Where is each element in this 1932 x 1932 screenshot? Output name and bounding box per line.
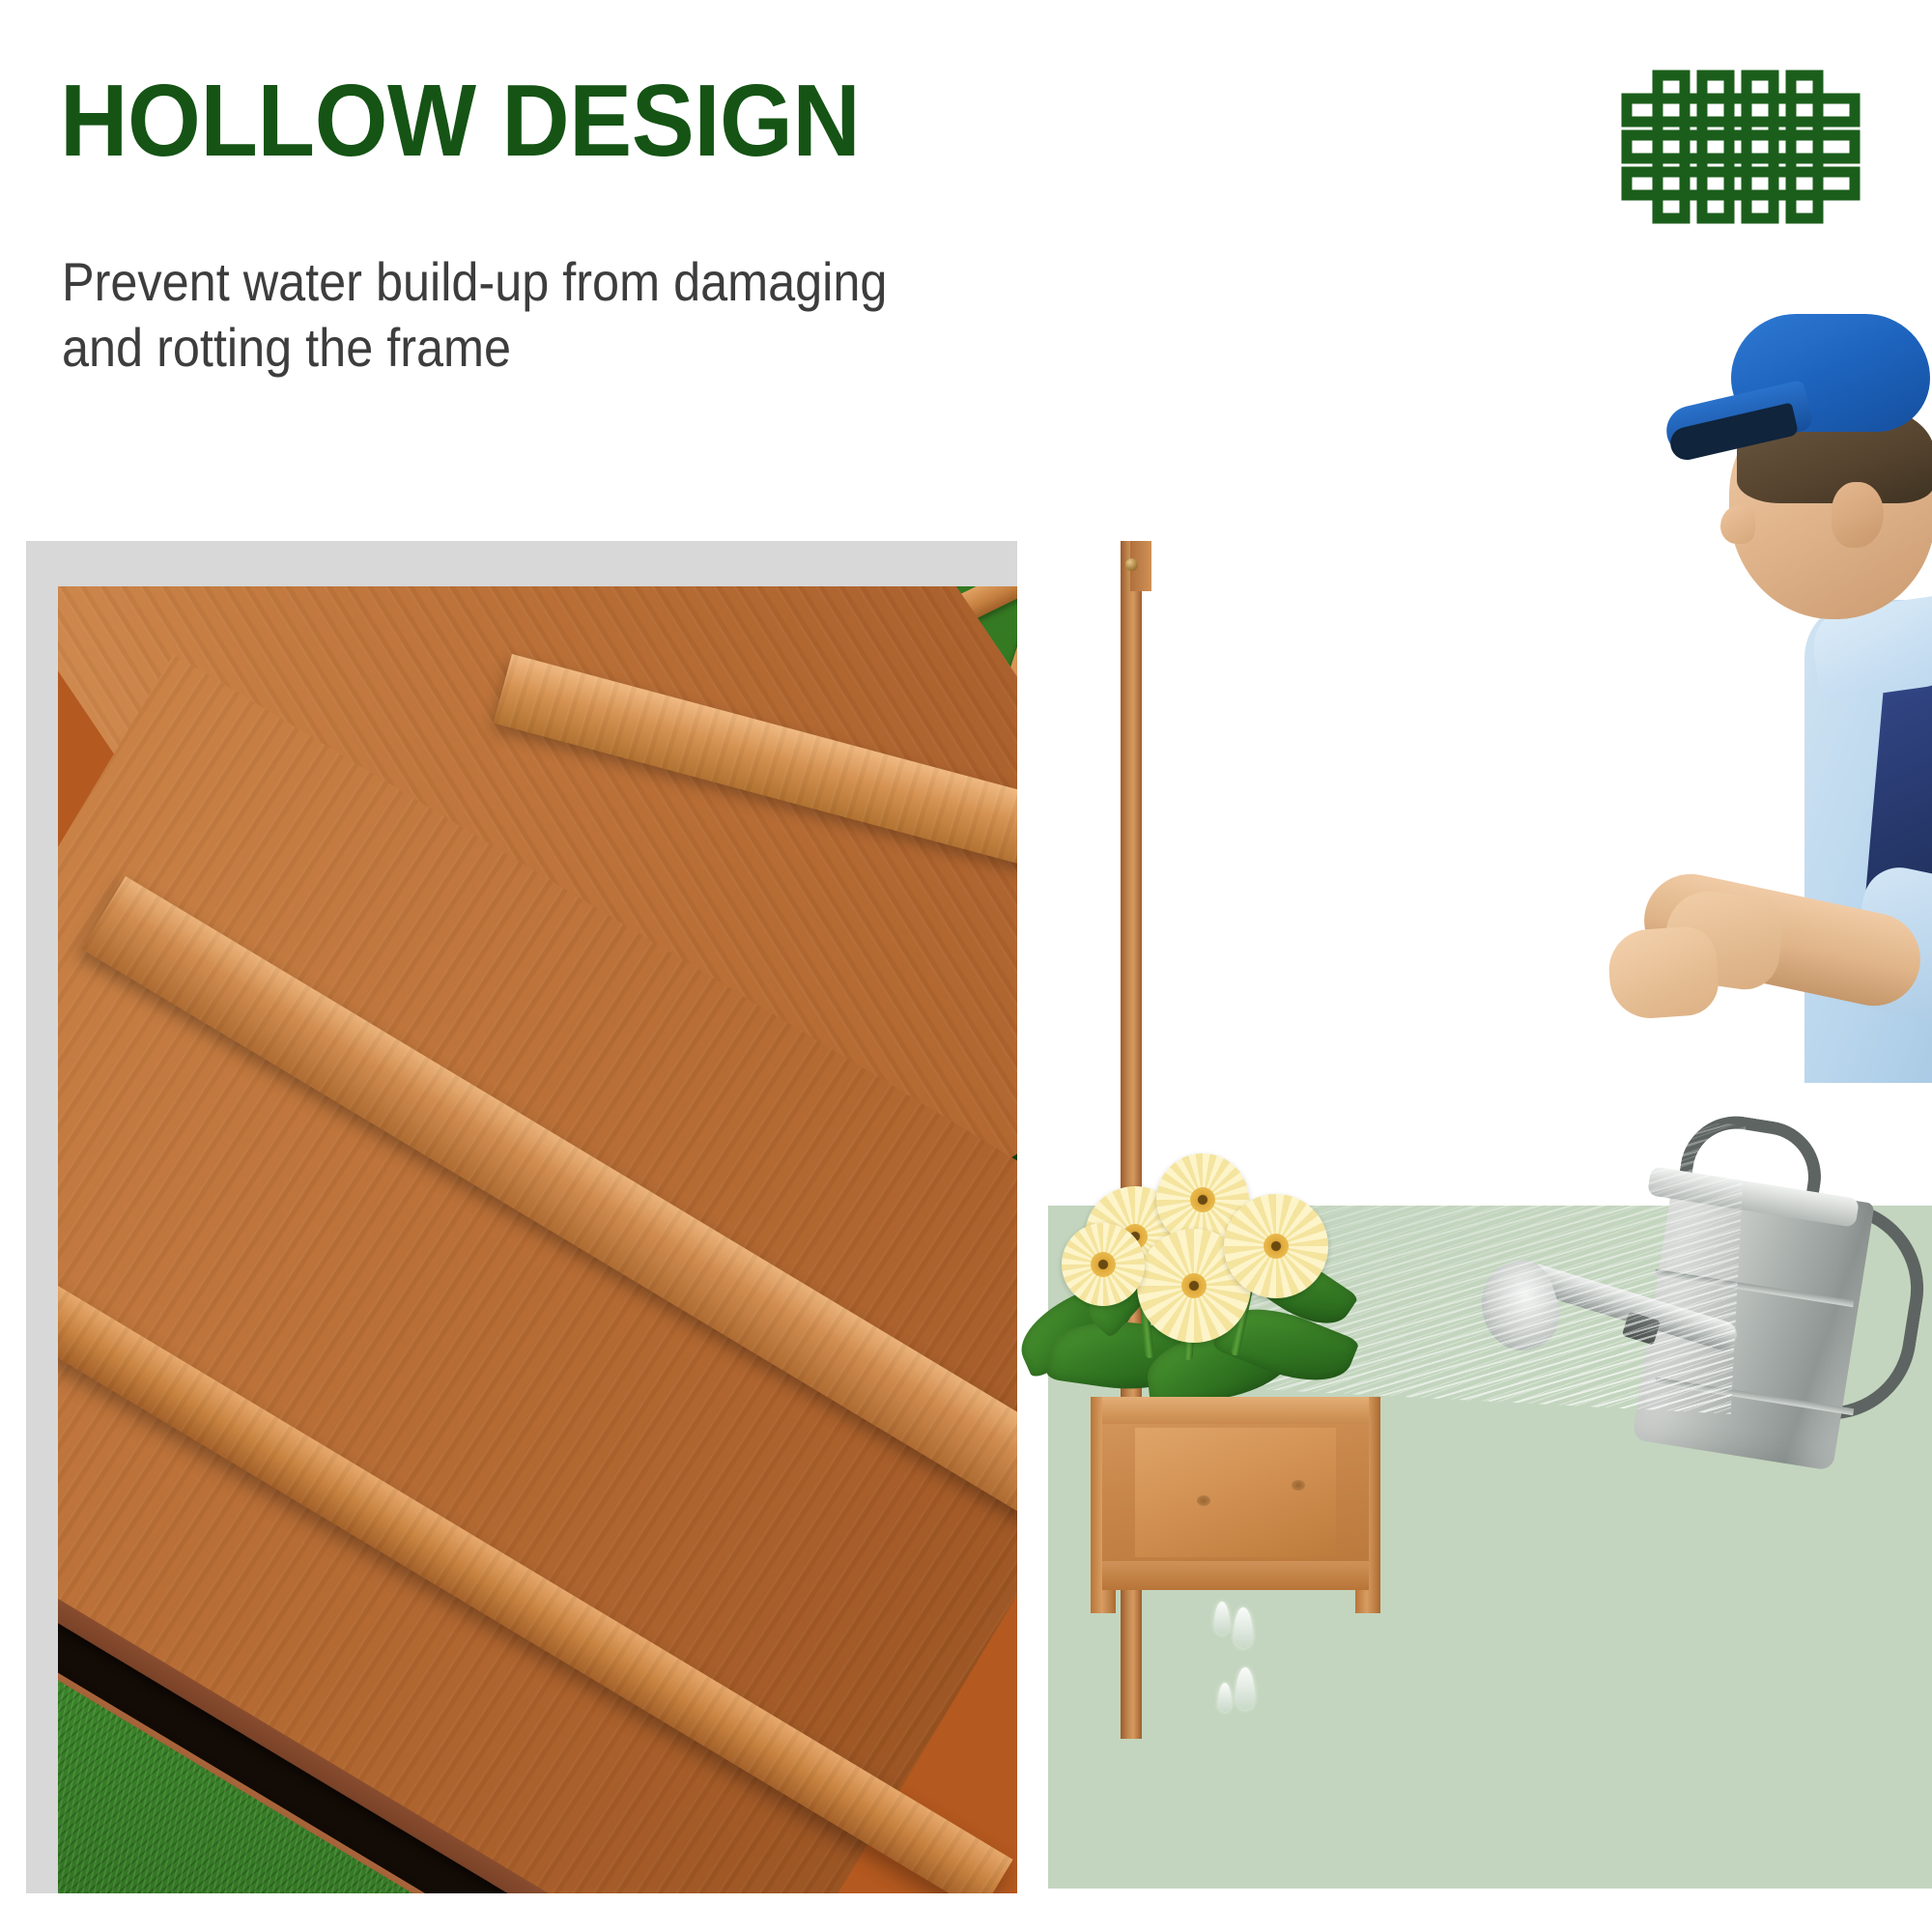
flower-center bbox=[1190, 1187, 1215, 1212]
planter-top-rail bbox=[1102, 1397, 1369, 1424]
gerbera-daisy bbox=[1224, 1194, 1328, 1298]
gardener-hand-front bbox=[1606, 924, 1720, 1021]
wooden-planter-box bbox=[1091, 1372, 1380, 1613]
right-product-scene bbox=[1048, 406, 1932, 1932]
marketing-banner: HOLLOW DESIGN Prevent water build-up fro… bbox=[0, 0, 1932, 1932]
planter-bottom-rail bbox=[1102, 1561, 1369, 1590]
water-drip bbox=[1236, 1667, 1255, 1710]
flower-center bbox=[1264, 1234, 1289, 1259]
post-screw bbox=[1125, 558, 1138, 571]
page-subtitle: Prevent water build-up from damaging and… bbox=[62, 249, 887, 382]
gerbera-daisy bbox=[1062, 1223, 1145, 1306]
wood-knot bbox=[1292, 1480, 1305, 1491]
flower-center bbox=[1091, 1252, 1116, 1277]
page-title: HOLLOW DESIGN bbox=[60, 68, 860, 175]
gardener-figure bbox=[1584, 314, 1932, 1241]
left-product-photo bbox=[58, 586, 1017, 1893]
wood-knot bbox=[1197, 1495, 1210, 1506]
gardener-nose bbox=[1720, 505, 1755, 544]
fence-lattice-icon bbox=[1621, 70, 1861, 224]
left-photo-frame bbox=[26, 541, 1017, 1893]
water-drip bbox=[1218, 1683, 1232, 1712]
flower-center bbox=[1181, 1273, 1207, 1298]
galvanized-watering-can bbox=[1565, 1169, 1913, 1488]
planter-center-panel bbox=[1135, 1428, 1336, 1557]
water-drip bbox=[1234, 1607, 1253, 1648]
